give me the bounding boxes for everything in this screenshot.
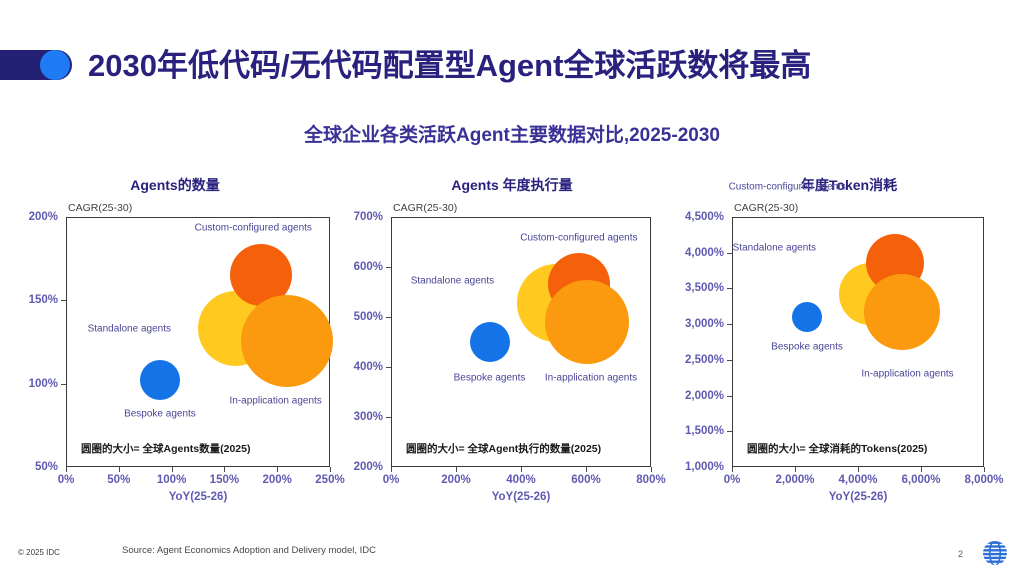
bubble-label: In-application agents	[861, 369, 953, 380]
bubble-label: Custom-configured agents	[520, 233, 637, 244]
page-title: 2030年低代码/无代码配置型Agent全球活跃数将最高	[88, 42, 811, 90]
x-axis-tick-mark	[795, 467, 796, 472]
y-axis-title: CAGR(25-30)	[68, 202, 132, 214]
x-axis-tick-mark	[224, 467, 225, 472]
plot-area: Bespoke agentsStandalone agentsCustom-co…	[391, 217, 651, 467]
x-axis-tick-label: 250%	[315, 474, 344, 486]
bubble-label: Standalone agents	[733, 242, 816, 253]
y-axis-tick-mark	[727, 396, 732, 397]
y-axis-tick-mark	[727, 253, 732, 254]
bubble-label: Custom-configured agents	[195, 222, 312, 233]
x-axis-tick-label: 400%	[506, 474, 535, 486]
y-axis-tick-mark	[386, 267, 391, 268]
page-subtitle: 全球企业各类活跃Agent主要数据对比,2025-2030	[0, 120, 1024, 147]
y-axis-title: CAGR(25-30)	[393, 202, 457, 214]
x-axis-tick-label: 0%	[58, 474, 75, 486]
x-axis-tick-mark	[456, 467, 457, 472]
x-axis-tick-mark	[391, 467, 392, 472]
x-axis-tick-mark	[119, 467, 120, 472]
bubble-label: Custom-configured agents	[729, 182, 846, 193]
y-axis-tick-label: 500%	[345, 311, 383, 323]
y-axis-tick-label: 50%	[8, 461, 58, 473]
y-axis-tick-mark	[727, 288, 732, 289]
bubble-bespoke-agents[interactable]	[470, 322, 510, 362]
x-axis-tick-label: 8,000%	[964, 474, 1003, 486]
y-axis-tick-label: 200%	[345, 461, 383, 473]
chart-panel-token-consumption: 年度Token消耗CAGR(25-30)Bespoke agentsStanda…	[682, 175, 1016, 505]
x-axis-tick-label: 100%	[157, 474, 186, 486]
x-axis-tick-mark	[521, 467, 522, 472]
y-axis-tick-label: 300%	[345, 411, 383, 423]
y-axis-tick-label: 700%	[345, 211, 383, 223]
bubble-bespoke-agents[interactable]	[792, 302, 822, 332]
bubble-label: Bespoke agents	[771, 341, 843, 352]
x-axis-title: YoY(25-26)	[66, 491, 330, 503]
x-axis-tick-label: 600%	[571, 474, 600, 486]
y-axis-tick-label: 3,000%	[682, 318, 724, 330]
y-axis-tick-label: 100%	[8, 378, 58, 390]
x-axis-tick-mark	[651, 467, 652, 472]
x-axis-tick-label: 800%	[636, 474, 665, 486]
bubble-label: In-application agents	[229, 396, 321, 407]
x-axis-tick-mark	[586, 467, 587, 472]
x-axis-tick-mark	[330, 467, 331, 472]
y-axis-tick-label: 2,500%	[682, 354, 724, 366]
x-axis-tick-mark	[66, 467, 67, 472]
bubble-label: In-application agents	[545, 372, 637, 383]
y-axis-tick-label: 400%	[345, 361, 383, 373]
footer-source-note: Source: Agent Economics Adoption and Del…	[122, 545, 376, 556]
x-axis-tick-label: 50%	[107, 474, 130, 486]
x-axis-tick-mark	[858, 467, 859, 472]
bubble-in-application-agents[interactable]	[545, 280, 629, 364]
footer-copyright: © 2025 IDC	[18, 548, 60, 557]
y-axis-tick-label: 1,000%	[682, 461, 724, 473]
bubble-size-note: 圆圈的大小= 全球消耗的Tokens(2025)	[747, 441, 927, 456]
chart-title: Agents 年度执行量	[345, 175, 679, 195]
x-axis-tick-label: 0%	[724, 474, 741, 486]
page-number: 2	[958, 549, 963, 559]
chart-panel-agents-count: Agents的数量CAGR(25-30)Bespoke agentsStanda…	[8, 175, 342, 505]
x-axis-tick-label: 200%	[441, 474, 470, 486]
y-axis-tick-mark	[727, 431, 732, 432]
y-axis-tick-mark	[386, 367, 391, 368]
bubble-bespoke-agents[interactable]	[140, 360, 180, 400]
y-axis-tick-label: 200%	[8, 211, 58, 223]
y-axis-tick-label: 150%	[8, 294, 58, 306]
y-axis-tick-mark	[727, 360, 732, 361]
y-axis-tick-label: 600%	[345, 261, 383, 273]
bubble-in-application-agents[interactable]	[241, 295, 333, 387]
plot-area: Bespoke agentsStandalone agentsCustom-co…	[66, 217, 330, 467]
x-axis-tick-mark	[984, 467, 985, 472]
y-axis-tick-mark	[727, 324, 732, 325]
x-axis-tick-mark	[172, 467, 173, 472]
bubble-size-note: 圆圈的大小= 全球Agent执行的数量(2025)	[406, 441, 601, 456]
y-axis-tick-label: 4,500%	[682, 211, 724, 223]
title-marker-dot-icon	[40, 50, 70, 80]
bubble-label: Bespoke agents	[454, 373, 526, 384]
y-axis-tick-mark	[61, 300, 66, 301]
x-axis-tick-label: 4,000%	[838, 474, 877, 486]
y-axis-tick-label: 1,500%	[682, 425, 724, 437]
x-axis-tick-label: 200%	[262, 474, 291, 486]
x-axis-tick-mark	[732, 467, 733, 472]
x-axis-tick-mark	[921, 467, 922, 472]
bubble-label: Standalone agents	[88, 324, 171, 335]
x-axis-tick-label: 2,000%	[775, 474, 814, 486]
y-axis-tick-label: 4,000%	[682, 247, 724, 259]
x-axis-tick-label: 0%	[383, 474, 400, 486]
y-axis-title: CAGR(25-30)	[734, 202, 798, 214]
x-axis-title: YoY(25-26)	[732, 491, 984, 503]
bubble-label: Standalone agents	[411, 276, 494, 287]
x-axis-tick-label: 6,000%	[901, 474, 940, 486]
x-axis-tick-mark	[277, 467, 278, 472]
idc-globe-logo	[978, 536, 1012, 570]
y-axis-tick-mark	[386, 317, 391, 318]
slide-header: 2030年低代码/无代码配置型Agent全球活跃数将最高	[0, 42, 1024, 92]
y-axis-tick-mark	[386, 417, 391, 418]
y-axis-tick-label: 3,500%	[682, 282, 724, 294]
x-axis-title: YoY(25-26)	[391, 491, 651, 503]
chart-title: Agents的数量	[8, 175, 342, 195]
bubble-size-note: 圆圈的大小= 全球Agents数量(2025)	[81, 441, 251, 456]
y-axis-tick-label: 2,000%	[682, 390, 724, 402]
plot-area: Bespoke agentsStandalone agentsCustom-co…	[732, 217, 984, 467]
bubble-in-application-agents[interactable]	[864, 274, 940, 350]
x-axis-tick-label: 150%	[210, 474, 239, 486]
bubble-label: Bespoke agents	[124, 408, 196, 419]
y-axis-tick-mark	[61, 384, 66, 385]
chart-panel-agents-executions: Agents 年度执行量CAGR(25-30)Bespoke agentsSta…	[345, 175, 679, 505]
